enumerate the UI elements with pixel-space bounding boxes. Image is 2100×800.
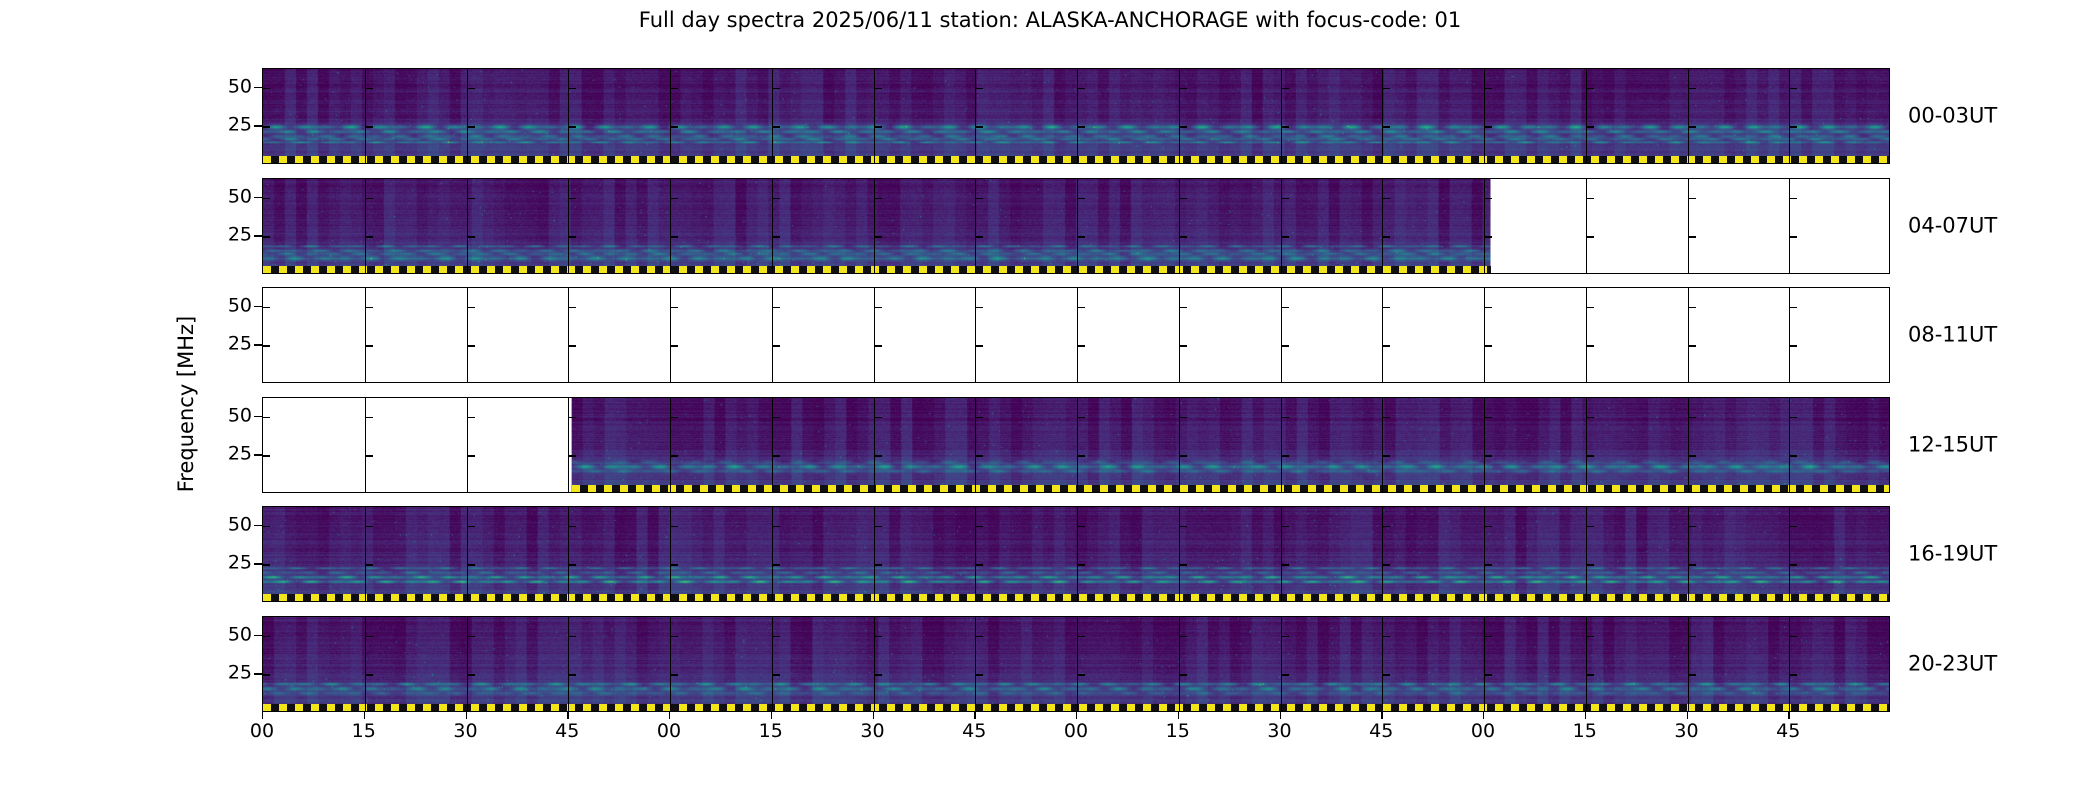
page-title: Full day spectra 2025/06/11 station: ALA… bbox=[0, 8, 2100, 32]
x-tick-dash bbox=[669, 712, 670, 719]
x-tick-label: 45 bbox=[1369, 722, 1393, 741]
x-tick-dash bbox=[466, 712, 467, 719]
x-tick-label: 15 bbox=[352, 722, 376, 741]
spectrogram-row-12-15ut[interactable] bbox=[262, 397, 1890, 493]
spectrogram-canvas bbox=[263, 288, 1889, 382]
x-tick-dash bbox=[974, 712, 975, 719]
x-tick-label: 15 bbox=[759, 722, 783, 741]
y-tick-dash bbox=[254, 416, 262, 417]
x-tick-dash bbox=[1280, 712, 1281, 719]
x-tick-label: 15 bbox=[1573, 722, 1597, 741]
y-tick-dash bbox=[254, 306, 262, 307]
spectrogram-row-20-23ut[interactable] bbox=[262, 616, 1890, 712]
x-tick-dash bbox=[1483, 712, 1484, 719]
spectrogram-canvas bbox=[263, 69, 1889, 163]
x-tick-dash bbox=[873, 712, 874, 719]
x-tick-dash bbox=[1585, 712, 1586, 719]
row-label-08-11ut: 08-11UT bbox=[1908, 325, 1997, 346]
y-tick-label: 25 bbox=[196, 664, 252, 683]
y-tick-dash bbox=[254, 235, 262, 236]
y-tick-dash bbox=[254, 673, 262, 674]
x-tick-dash bbox=[364, 712, 365, 719]
x-tick-dash bbox=[1076, 712, 1077, 719]
y-tick-label: 25 bbox=[196, 554, 252, 573]
y-tick-label: 50 bbox=[196, 296, 252, 315]
y-tick-dash bbox=[254, 344, 262, 345]
x-tick-dash bbox=[1788, 712, 1789, 719]
y-axis-title: Frequency [MHz] bbox=[174, 316, 198, 492]
y-tick-label: 25 bbox=[196, 335, 252, 354]
y-tick-label: 25 bbox=[196, 445, 252, 464]
x-tick-label: 45 bbox=[555, 722, 579, 741]
row-label-00-03ut: 00-03UT bbox=[1908, 106, 1997, 127]
y-tick-dash bbox=[254, 125, 262, 126]
row-label-20-23ut: 20-23UT bbox=[1908, 654, 1997, 675]
spectrogram-canvas bbox=[263, 179, 1889, 273]
spectrogram-row-00-03ut[interactable] bbox=[262, 68, 1890, 164]
x-tick-dash bbox=[1178, 712, 1179, 719]
y-tick-label: 50 bbox=[196, 77, 252, 96]
x-tick-label: 00 bbox=[250, 722, 274, 741]
spectrogram-canvas bbox=[263, 507, 1889, 601]
x-tick-dash bbox=[1381, 712, 1382, 719]
y-tick-label: 50 bbox=[196, 187, 252, 206]
x-tick-label: 00 bbox=[657, 722, 681, 741]
y-tick-label: 50 bbox=[196, 625, 252, 644]
x-tick-label: 15 bbox=[1166, 722, 1190, 741]
y-tick-dash bbox=[254, 87, 262, 88]
x-tick-label: 30 bbox=[860, 722, 884, 741]
spectrogram-figure: Full day spectra 2025/06/11 station: ALA… bbox=[0, 0, 2100, 800]
x-tick-label: 00 bbox=[1471, 722, 1495, 741]
y-tick-dash bbox=[254, 197, 262, 198]
spectrogram-canvas bbox=[263, 398, 1889, 492]
row-label-04-07ut: 04-07UT bbox=[1908, 216, 1997, 237]
spectrogram-row-16-19ut[interactable] bbox=[262, 506, 1890, 602]
x-tick-dash bbox=[567, 712, 568, 719]
y-tick-dash bbox=[254, 454, 262, 455]
row-label-16-19ut: 16-19UT bbox=[1908, 544, 1997, 565]
y-tick-label: 25 bbox=[196, 116, 252, 135]
y-tick-label: 50 bbox=[196, 406, 252, 425]
spectrogram-row-04-07ut[interactable] bbox=[262, 178, 1890, 274]
spectrogram-row-08-11ut[interactable] bbox=[262, 287, 1890, 383]
x-tick-label: 30 bbox=[1267, 722, 1291, 741]
x-tick-label: 30 bbox=[453, 722, 477, 741]
y-tick-dash bbox=[254, 635, 262, 636]
x-tick-label: 45 bbox=[1776, 722, 1800, 741]
x-tick-label: 30 bbox=[1674, 722, 1698, 741]
y-tick-dash bbox=[254, 563, 262, 564]
spectrogram-canvas bbox=[263, 617, 1889, 711]
y-tick-dash bbox=[254, 525, 262, 526]
x-tick-dash bbox=[262, 712, 263, 719]
x-tick-dash bbox=[1687, 712, 1688, 719]
x-tick-label: 45 bbox=[962, 722, 986, 741]
y-tick-label: 50 bbox=[196, 515, 252, 534]
y-tick-label: 25 bbox=[196, 226, 252, 245]
row-label-12-15ut: 12-15UT bbox=[1908, 435, 1997, 456]
x-tick-dash bbox=[771, 712, 772, 719]
x-tick-label: 00 bbox=[1064, 722, 1088, 741]
